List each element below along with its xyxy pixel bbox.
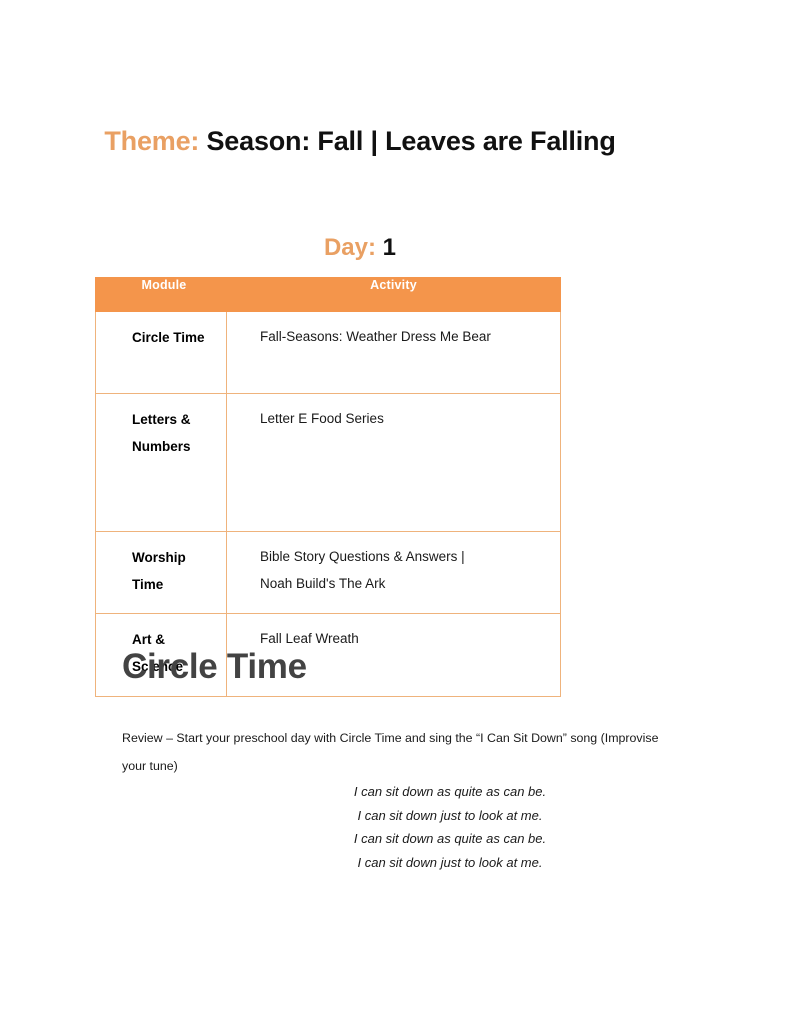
cell-module: Circle Time bbox=[96, 312, 227, 394]
activity-line: Noah Build's The Ark bbox=[260, 570, 548, 597]
cell-module: Letters & Numbers bbox=[96, 394, 227, 532]
cell-activity: Letter E Food Series bbox=[227, 394, 561, 532]
cell-activity: Fall-Seasons: Weather Dress Me Bear bbox=[227, 312, 561, 394]
lyric-line: I can sit down as quite as can be. bbox=[170, 780, 730, 804]
review-paragraph: Review – Start your preschool day with C… bbox=[122, 724, 662, 780]
column-header-module: Module bbox=[96, 278, 227, 312]
activity-line: Bible Story Questions & Answers | bbox=[260, 543, 548, 570]
table-row: Worship Time Bible Story Questions & Ans… bbox=[96, 532, 561, 614]
column-header-activity: Activity bbox=[227, 278, 561, 312]
table-header-row: Module Activity bbox=[96, 278, 561, 312]
lyric-line: I can sit down just to look at me. bbox=[170, 804, 730, 828]
table-row: Letters & Numbers Letter E Food Series bbox=[96, 394, 561, 532]
activity-line: Letter E Food Series bbox=[260, 405, 548, 432]
cell-module: Worship Time bbox=[96, 532, 227, 614]
theme-heading: Theme: Season: Fall | Leaves are Falling bbox=[95, 122, 625, 161]
theme-label: Theme: bbox=[104, 126, 199, 156]
theme-value: Season: Fall | Leaves are Falling bbox=[207, 126, 616, 156]
section-title: Circle Time bbox=[122, 645, 307, 689]
activity-line: Fall-Seasons: Weather Dress Me Bear bbox=[260, 323, 548, 350]
lyric-line: I can sit down just to look at me. bbox=[170, 851, 730, 875]
table-row: Circle Time Fall-Seasons: Weather Dress … bbox=[96, 312, 561, 394]
day-label: Day: bbox=[324, 234, 376, 261]
day-heading: Day: 1 bbox=[95, 233, 625, 263]
day-value: 1 bbox=[383, 234, 396, 261]
document-page: Theme: Season: Fall | Leaves are Falling… bbox=[0, 0, 791, 1024]
lyric-line: I can sit down as quite as can be. bbox=[170, 827, 730, 851]
lesson-plan-table: Module Activity Circle Time Fall-Seasons… bbox=[95, 277, 561, 697]
song-lyrics: I can sit down as quite as can be. I can… bbox=[170, 780, 730, 874]
cell-activity: Bible Story Questions & Answers | Noah B… bbox=[227, 532, 561, 614]
